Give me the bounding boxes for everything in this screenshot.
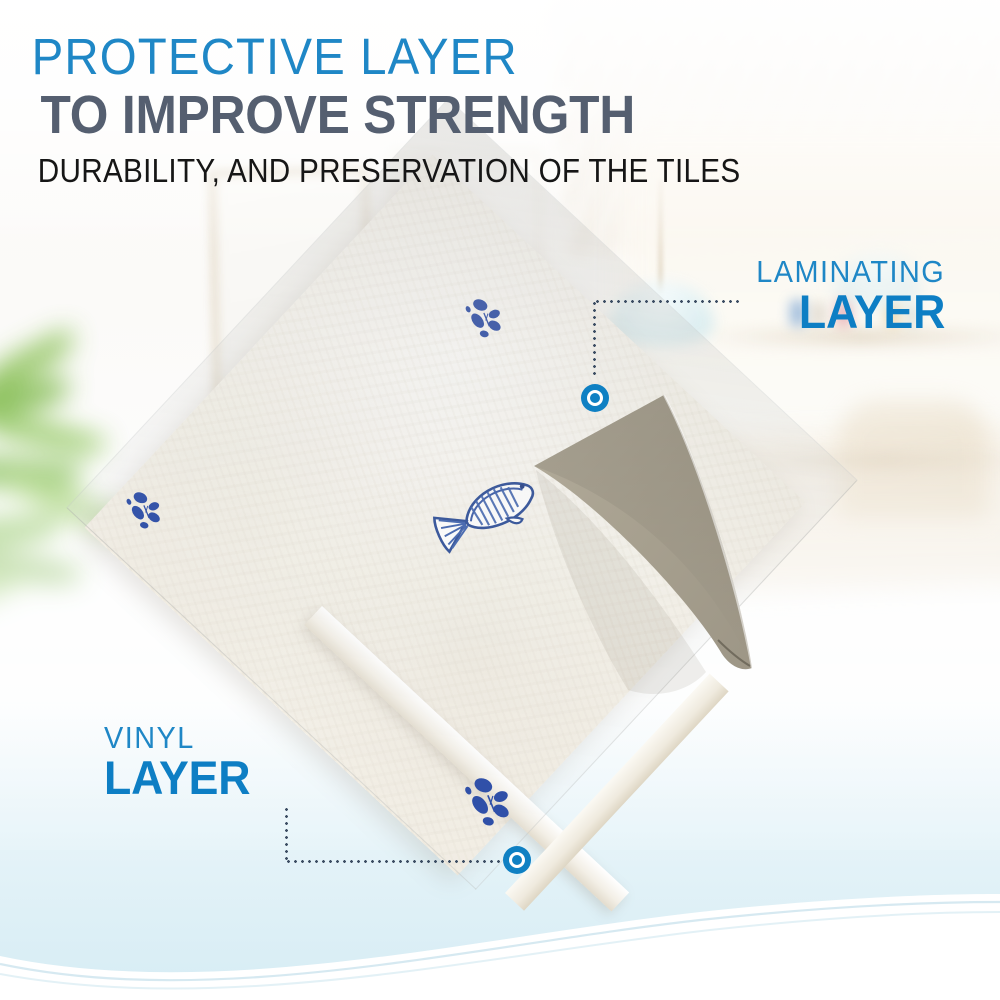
callout-laminating-small: LAMINATING <box>756 256 945 288</box>
leader-dash-vertical <box>593 300 596 376</box>
callout-laminating-layer: LAMINATING LAYER <box>742 256 945 336</box>
callout-vinyl-small: VINYL <box>104 722 247 754</box>
leader-dash-horizontal <box>594 300 740 303</box>
callout-vinyl-big: LAYER <box>104 754 250 802</box>
headline-line-2: TO IMPROVE STRENGTH <box>0 84 920 144</box>
leader-dash-vertical <box>285 806 288 862</box>
decorative-wave <box>0 860 1000 1000</box>
headline-line-1: PROTECTIVE LAYER <box>0 0 930 84</box>
callout-dot-icon-laminating[interactable] <box>581 384 609 412</box>
headline-block: PROTECTIVE LAYER TO IMPROVE STRENGTH DUR… <box>0 0 1000 190</box>
headline-line-3: DURABILITY, AND PRESERVATION OF THE TILE… <box>0 144 900 190</box>
poster-canvas: PROTECTIVE LAYER TO IMPROVE STRENGTH DUR… <box>0 0 1000 1000</box>
callout-vinyl-layer: VINYL LAYER <box>104 722 258 802</box>
callout-laminating-big: LAYER <box>752 288 945 336</box>
